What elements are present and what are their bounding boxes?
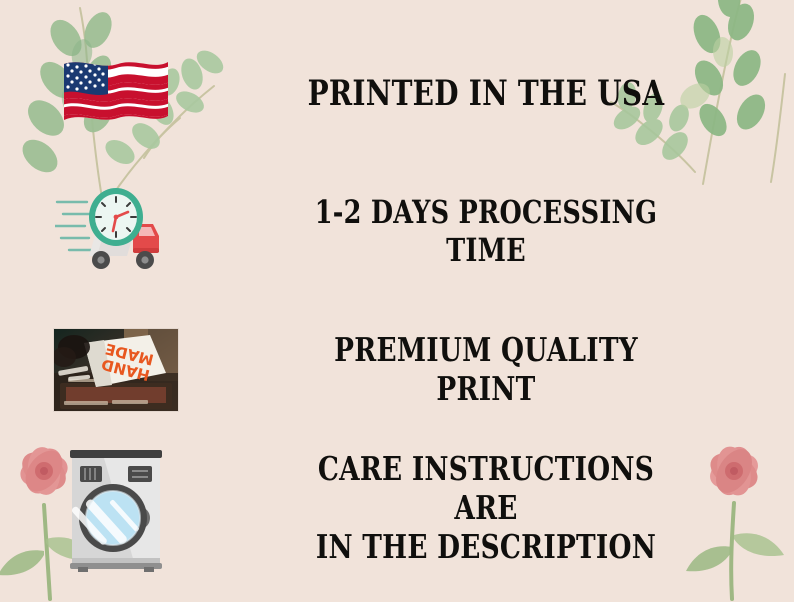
feature-row-premium-quality: HAND MADE PREMIUM QUALITY PRINT <box>0 301 794 440</box>
feature-icon-cell-1 <box>0 54 232 132</box>
washing-machine-icon <box>64 444 168 574</box>
feature-list: PRINTED IN THE USA <box>0 0 794 596</box>
feature-icon-cell-2 <box>0 186 232 278</box>
feature-text-cell-2: 1-2 DAYS PROCESSING TIME <box>232 194 794 270</box>
feature-row-processing-time: 1-2 DAYS PROCESSING TIME <box>0 163 794 302</box>
feature-icon-cell-4 <box>0 444 232 574</box>
feature-row-printed-in-usa: PRINTED IN THE USA <box>0 24 794 163</box>
feature-text-cell-3: PREMIUM QUALITY PRINT <box>232 331 794 409</box>
us-flag-icon <box>62 54 170 132</box>
fast-delivery-truck-icon <box>55 186 177 278</box>
feature-headline-care-instructions: CARE INSTRUCTIONS ARE IN THE DESCRIPTION <box>283 450 689 567</box>
feature-headline-processing-time: 1-2 DAYS PROCESSING TIME <box>283 194 689 270</box>
feature-icon-cell-3: HAND MADE <box>0 329 232 411</box>
feature-headline-printed-in-usa: PRINTED IN THE USA <box>308 73 665 114</box>
feature-text-cell-4: CARE INSTRUCTIONS ARE IN THE DESCRIPTION <box>232 450 794 567</box>
feature-row-care-instructions: CARE INSTRUCTIONS ARE IN THE DESCRIPTION <box>0 440 794 579</box>
screen-printing-photo: HAND MADE <box>54 329 178 411</box>
feature-headline-premium-quality: PREMIUM QUALITY PRINT <box>283 331 689 409</box>
feature-text-cell-1: PRINTED IN THE USA <box>232 73 794 114</box>
